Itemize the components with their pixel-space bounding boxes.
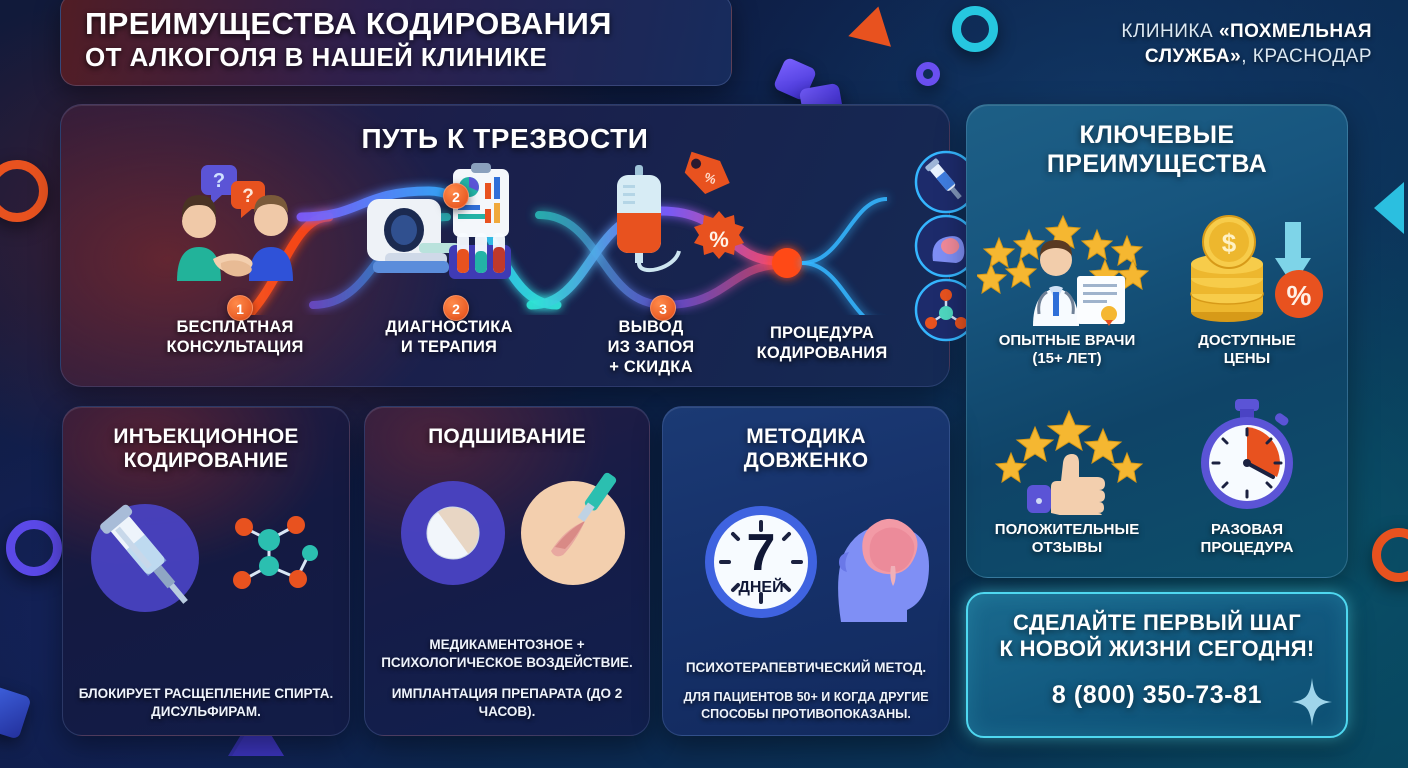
dovzhenko-title-line2: ДОВЖЕНКО — [677, 449, 935, 473]
clinic-brand: КЛИНИКА «ПОХМЕЛЬНАЯ СЛУЖБА», КРАСНОДАР — [1042, 20, 1372, 69]
syringe-molecule-icon — [63, 480, 349, 630]
key-title-line1: КЛЮЧЕВЫЕ — [967, 121, 1347, 150]
svg-text:$: $ — [1222, 228, 1237, 258]
key-benefit-label-doctors: ОПЫТНЫЕ ВРАЧИ (15+ ЛЕТ) — [999, 332, 1136, 368]
implant-title-line1: ПОДШИВАНИЕ — [379, 425, 635, 449]
reviews-label-line1: ПОЛОЖИТЕЛЬНЫЕ — [995, 521, 1139, 539]
title-line-2: ОТ АЛКОГОЛЯ В НАШЕЙ КЛИНИКЕ — [85, 42, 731, 72]
journey-step-3: ВЫВОД ИЗ ЗАПОЯ + СКИДКА — [561, 317, 741, 380]
injection-card-title: ИНЪЕКЦИОННОЕ КОДИРОВАНИЕ — [63, 407, 349, 474]
decor-ring-orange-topleft — [0, 160, 48, 222]
dovzhenko-body-1: ПСИХОТЕРАПЕВТИЧЕСКИЙ МЕТОД. — [675, 659, 937, 677]
decor-ring-violet-left — [6, 520, 62, 576]
infographic-poster: ПРЕИМУЩЕСТВА КОДИРОВАНИЯ ОТ АЛКОГОЛЯ В Н… — [0, 0, 1408, 768]
dovzhenko-card-title: МЕТОДИКА ДОВЖЕНКО — [663, 407, 949, 474]
implant-body-2: ИМПЛАНТАЦИЯ ПРЕПАРАТА (ДО 2 ЧАСОВ). — [377, 685, 637, 721]
doctors-label-line1: ОПЫТНЫЕ ВРАЧИ — [999, 332, 1136, 350]
cta-head-line1: СДЕЛАЙТЕ ПЕРВЫЙ ШАГ — [968, 610, 1346, 636]
brand-prefix: КЛИНИКА — [1121, 21, 1219, 42]
doctors-label-line2: (15+ ЛЕТ) — [999, 350, 1136, 368]
decor-ring-violet-small-top — [916, 62, 940, 86]
implant-card-title: ПОДШИВАНИЕ — [365, 407, 649, 449]
prices-label-line1: ДОСТУПНЫЕ — [1198, 332, 1296, 350]
step-3-label-line2: ИЗ ЗАПОЯ — [561, 337, 741, 357]
clock-unit: ДНЕЙ — [738, 577, 783, 596]
thumbs-up-stars-icon — [977, 397, 1157, 515]
key-benefit-item-reviews: ПОЛОЖИТЕЛЬНЫЕ ОТЗЫВЫ — [977, 376, 1157, 565]
key-benefits-panel: КЛЮЧЕВЫЕ ПРЕИМУЩЕСТВА — [966, 104, 1348, 578]
cta-panel[interactable]: СДЕЛАЙТЕ ПЕРВЫЙ ШАГ К НОВОЙ ЖИЗНИ СЕГОДН… — [966, 592, 1348, 738]
key-benefit-label-reviews: ПОЛОЖИТЕЛЬНЫЕ ОТЗЫВЫ — [995, 521, 1139, 557]
capsule-implant-icon — [365, 455, 649, 605]
mri-scanner-icon — [361, 161, 541, 285]
decor-triangle-orange-top — [848, 1, 899, 47]
decor-triangle-cyan-right — [1374, 182, 1404, 234]
injection-body-1: БЛОКИРУЕТ РАСЩЕПЛЕНИЕ СПИРТА. ДИСУЛЬФИРА… — [75, 685, 337, 721]
step-3-label-line3: + СКИДКА — [561, 357, 741, 377]
journey-title: ПУТЬ К ТРЕЗВОСТИ — [61, 123, 949, 155]
dovzhenko-title-line1: МЕТОДИКА — [677, 425, 935, 449]
step-1-label-line2: КОНСУЛЬТАЦИЯ — [125, 337, 345, 357]
coins-discount-icon: $ % — [1157, 208, 1337, 326]
step-3-label-line1: ВЫВОД — [561, 317, 741, 337]
cta-phone-number[interactable]: 8 (800) 350-73-81 — [968, 681, 1346, 710]
key-benefits-title: КЛЮЧЕВЫЕ ПРЕИМУЩЕСТВА — [967, 105, 1347, 178]
implant-body-1: МЕДИКАМЕНТОЗНОЕ + ПСИХОЛОГИЧЕСКОЕ ВОЗДЕЙ… — [377, 636, 637, 672]
method-card-injection: ИНЪЕКЦИОННОЕ КОДИРОВАНИЕ — [62, 406, 350, 736]
decor-ring-cyan-topright — [952, 6, 998, 52]
key-benefit-item-single-procedure: РАЗОВАЯ ПРОЦЕДУРА — [1157, 376, 1337, 565]
iv-drip-discount-icon: % % — [609, 149, 749, 285]
key-benefit-item-prices: $ % ДОСТУПНЫЕ ЦЕНЫ — [1157, 187, 1337, 376]
method-card-dovzhenko: МЕТОДИКА ДОВЖЕНКО 7 ДНЕЙ — [662, 406, 950, 736]
journey-panel: ПУТЬ К ТРЕЗВОСТИ — [60, 104, 950, 387]
key-benefit-label-single-procedure: РАЗОВАЯ ПРОЦЕДУРА — [1201, 521, 1294, 557]
stopwatch-icon — [1157, 397, 1337, 515]
step-badge-2-top: 2 — [443, 183, 469, 209]
clock-number: 7 — [747, 524, 776, 582]
page-title: ПРЕИМУЩЕСТВА КОДИРОВАНИЯ ОТ АЛКОГОЛЯ В Н… — [85, 7, 731, 72]
svg-text:%: % — [1287, 280, 1312, 311]
decor-ring-orange-right — [1372, 528, 1408, 582]
brand-city: , КРАСНОДАР — [1241, 46, 1372, 67]
step-4-label-line1: ПРОЦЕДУРА — [727, 323, 917, 343]
cta-head-line2: К НОВОЙ ЖИЗНИ СЕГОДНЯ! — [968, 636, 1346, 662]
journey-step-4: ПРОЦЕДУРА КОДИРОВАНИЯ — [727, 323, 917, 380]
main-title-card: ПРЕИМУЩЕСТВА КОДИРОВАНИЯ ОТ АЛКОГОЛЯ В Н… — [60, 0, 732, 86]
injection-card-body: БЛОКИРУЕТ РАСЩЕПЛЕНИЕ СПИРТА. ДИСУЛЬФИРА… — [75, 685, 337, 721]
method-card-implant: ПОДШИВАНИЕ МЕДИКАМЕНТОЗНОЕ + ПСИХ — [364, 406, 650, 736]
doctor-certificate-stars-icon — [977, 208, 1157, 326]
step-4-label-line2: КОДИРОВАНИЯ — [727, 343, 917, 363]
injection-title-line2: КОДИРОВАНИЕ — [77, 449, 335, 473]
injection-title-line1: ИНЪЕКЦИОННОЕ — [77, 425, 335, 449]
implant-card-body: МЕДИКАМЕНТОЗНОЕ + ПСИХОЛОГИЧЕСКОЕ ВОЗДЕЙ… — [377, 636, 637, 721]
journey-step-1: БЕСПЛАТНАЯ КОНСУЛЬТАЦИЯ — [125, 317, 345, 380]
svg-text:%: % — [709, 227, 729, 252]
key-benefit-label-prices: ДОСТУПНЫЕ ЦЕНЫ — [1198, 332, 1296, 368]
decor-square-violet-top — [773, 57, 818, 102]
step-1-label-line1: БЕСПЛАТНАЯ — [125, 317, 345, 337]
step-2-label-line1: ДИАГНОСТИКА — [349, 317, 549, 337]
prices-label-line2: ЦЕНЫ — [1198, 350, 1296, 368]
handshake-question-icon: ? ? — [165, 163, 315, 283]
reviews-label-line2: ОТЗЫВЫ — [995, 539, 1139, 557]
key-benefit-item-doctors: ОПЫТНЫЕ ВРАЧИ (15+ ЛЕТ) — [977, 187, 1157, 376]
journey-step-2: ДИАГНОСТИКА И ТЕРАПИЯ — [349, 317, 549, 380]
step-2-label-line2: И ТЕРАПИЯ — [349, 337, 549, 357]
single-procedure-label-line1: РАЗОВАЯ — [1201, 521, 1294, 539]
cta-heading: СДЕЛАЙТЕ ПЕРВЫЙ ШАГ К НОВОЙ ЖИЗНИ СЕГОДН… — [968, 594, 1346, 663]
svg-text:?: ? — [213, 170, 225, 192]
key-benefits-grid: ОПЫТНЫЕ ВРАЧИ (15+ ЛЕТ) — [977, 187, 1337, 565]
single-procedure-label-line2: ПРОЦЕДУРА — [1201, 539, 1294, 557]
sparkle-icon — [1292, 678, 1332, 726]
title-line-1: ПРЕИМУЩЕСТВА КОДИРОВАНИЯ — [85, 7, 731, 42]
svg-text:?: ? — [242, 186, 254, 207]
dovzhenko-card-body: ПСИХОТЕРАПЕВТИЧЕСКИЙ МЕТОД. ДЛЯ ПАЦИЕНТО… — [675, 659, 937, 723]
dovzhenko-body-2: ДЛЯ ПАЦИЕНТОВ 50+ И КОГДА ДРУГИЕ СПОСОБЫ… — [675, 689, 937, 723]
decor-square-blue-bottomleft — [0, 684, 32, 739]
key-title-line2: ПРЕИМУЩЕСТВА — [967, 150, 1347, 179]
clock-brain-icon: 7 ДНЕЙ — [663, 480, 949, 620]
